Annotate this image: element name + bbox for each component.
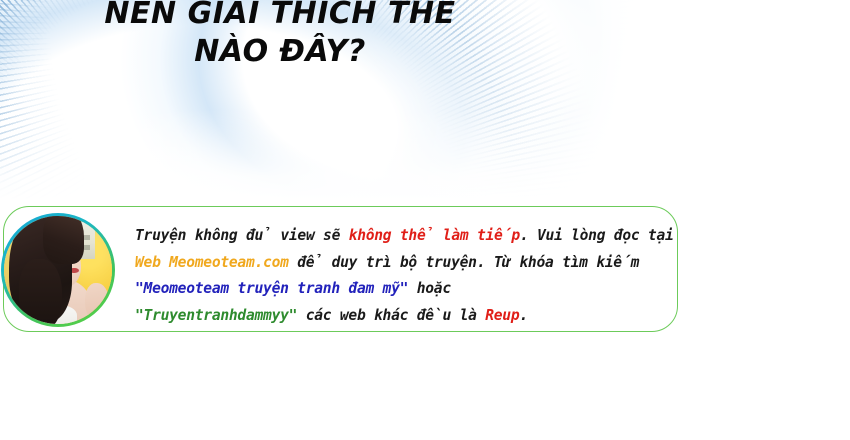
credit-line-4-b: các web khác đều là bbox=[297, 307, 485, 324]
comic-page: NÓI THẾ NÀO NHỈ... NÊN GIẢI THÍCH THẾ NÀ… bbox=[0, 0, 850, 440]
credit-line-3: "Meomeoteam truyện tranh đam mỹ" hoặc bbox=[135, 276, 665, 303]
credit-line-1-highlight: không thể làm tiếp bbox=[349, 227, 520, 244]
credit-line-3-b: hoặc bbox=[408, 280, 451, 297]
dialogue-text: NÓI THẾ NÀO NHỈ... NÊN GIẢI THÍCH THẾ NÀ… bbox=[0, 0, 560, 72]
photo-hair-lower bbox=[19, 259, 62, 324]
credit-keyword-primary: "Meomeoteam truyện tranh đam mỹ" bbox=[135, 280, 408, 297]
credit-line-2: Web Meomeoteam.com để duy trì bộ truyện.… bbox=[135, 250, 665, 277]
avatar-ring bbox=[1, 213, 115, 327]
credit-banner: Truyện không đủ view sẽ không thể làm ti… bbox=[3, 206, 678, 332]
avatar bbox=[1, 213, 119, 327]
dialogue-line-1: NÊN GIẢI THÍCH THẾ bbox=[0, 0, 560, 33]
credit-line-4: "Truyentranhdammyy" các web khác đều là … bbox=[135, 303, 665, 330]
dialogue-line-2: NÀO ĐÂY? bbox=[0, 33, 560, 71]
photo-hand bbox=[85, 283, 109, 320]
credit-line-1: Truyện không đủ view sẽ không thể làm ti… bbox=[135, 223, 665, 250]
credit-message: Truyện không đủ view sẽ không thể làm ti… bbox=[135, 223, 665, 329]
credit-line-1-a: Truyện không đủ view sẽ bbox=[135, 227, 349, 244]
credit-line-2-b: để duy trì bộ truyện. Từ khóa tìm kiếm bbox=[289, 254, 639, 271]
comic-art-panel: NÓI THẾ NÀO NHỈ... NÊN GIẢI THÍCH THẾ NÀ… bbox=[0, 0, 850, 200]
credit-keyword-secondary: "Truyentranhdammyy" bbox=[135, 307, 297, 324]
credit-website-link[interactable]: Web Meomeoteam.com bbox=[135, 254, 289, 271]
credit-line-4-d: . bbox=[519, 307, 528, 324]
credit-reup-warning: Reup bbox=[485, 307, 519, 324]
credit-line-1-c: . Vui lòng đọc tại bbox=[520, 227, 674, 244]
avatar-photo bbox=[4, 216, 112, 324]
photo-hair-front bbox=[43, 216, 84, 264]
